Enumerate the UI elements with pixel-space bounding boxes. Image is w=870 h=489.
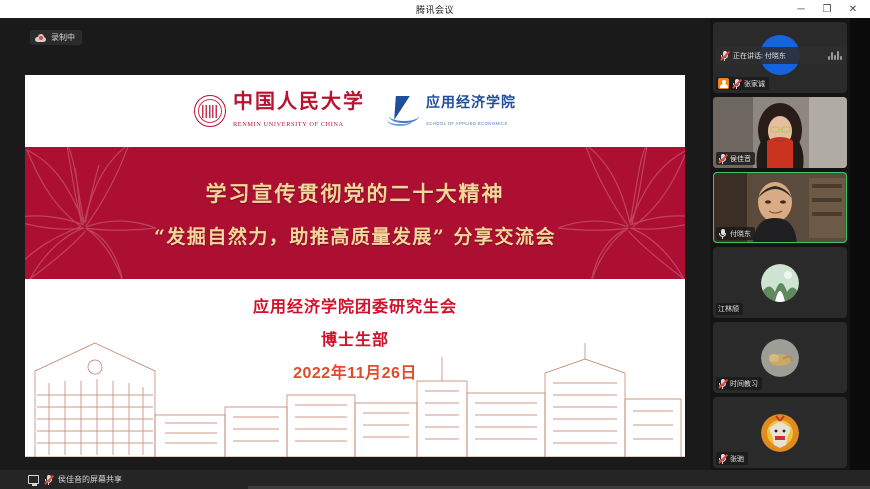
- university-name-en: RENMIN UNIVERSITY OF CHINA: [233, 121, 344, 128]
- mic-muted-icon: [720, 50, 729, 61]
- slide-logo-row: 中国人民大学 RENMIN UNIVERSITY OF CHINA 应用经济学院…: [25, 75, 685, 147]
- avatar: [761, 339, 799, 377]
- mic-on-icon: [718, 228, 727, 239]
- meeting-window: 录制中 中国人民大学 RENMIN UNIVERSITY OF CHINA 应用…: [0, 18, 870, 489]
- screen-share-icon: [28, 475, 39, 484]
- mic-muted-icon: [718, 453, 727, 464]
- university-name-cn: 中国人民大学: [233, 89, 365, 113]
- recording-indicator[interactable]: 录制中: [30, 30, 82, 45]
- participant-name: 付晓东: [730, 229, 751, 239]
- maximize-restore-button[interactable]: ❐: [814, 0, 840, 18]
- active-speaker-label: 正在讲话: 付晓东: [733, 51, 786, 61]
- participant-name: 侯佳音: [730, 154, 751, 164]
- slide-dept-line: 博士生部: [321, 326, 389, 350]
- audio-wave-icon: [828, 51, 842, 60]
- shared-screen-stage: 录制中 中国人民大学 RENMIN UNIVERSITY OF CHINA 应用…: [0, 18, 710, 470]
- participant-name: 张家诚: [744, 79, 765, 89]
- participant-tile-2[interactable]: 侯佳音: [713, 97, 847, 168]
- active-speaker-banner: 正在讲话: 付晓东: [715, 47, 847, 64]
- presentation-slide: 中国人民大学 RENMIN UNIVERSITY OF CHINA 应用经济学院…: [25, 75, 685, 457]
- recording-label: 录制中: [51, 32, 75, 43]
- recording-bar: 录制中: [0, 28, 710, 50]
- school-name-cn: 应用经济学院: [426, 95, 516, 111]
- screen-share-status-bar: 侯佳音的屏幕共享: [0, 470, 870, 489]
- participant-rail[interactable]: 正在讲话: 付晓东 张家诚: [710, 18, 850, 470]
- participant-tile-4[interactable]: 江林颀: [713, 247, 847, 318]
- participant-tile-5[interactable]: 时间教习: [713, 322, 847, 393]
- window-title-bar: 腾讯会议 ─ ❐ ✕: [0, 0, 870, 18]
- slide-title-banner: 学习宣传贯彻党的二十大精神 “发掘自然力，助推高质量发展” 分享交流会: [25, 147, 685, 279]
- participant-nametag: 侯佳音: [716, 152, 755, 165]
- participant-name: 时间教习: [730, 379, 758, 389]
- participant-nametag: 付晓东: [716, 227, 755, 240]
- school-of-applied-economics-logo: 应用经济学院 SCHOOL OF APPLIED ECONOMICS: [387, 92, 516, 130]
- sail-logo-icon: [387, 96, 421, 126]
- participant-tile-6[interactable]: 张驰: [713, 397, 847, 468]
- participant-name: 江林颀: [718, 304, 739, 314]
- close-button[interactable]: ✕: [840, 0, 866, 18]
- school-name-en: SCHOOL OF APPLIED ECONOMICS: [426, 121, 508, 126]
- avatar: [761, 414, 799, 452]
- slide-title-line1: 学习宣传贯彻党的二十大精神: [206, 178, 505, 208]
- participant-nametag: 张家诚: [716, 77, 769, 90]
- window-controls: ─ ❐ ✕: [788, 0, 866, 18]
- mic-muted-icon: [718, 153, 727, 164]
- renmin-university-seal-icon: [194, 95, 226, 127]
- slide-footer-area: 应用经济学院团委研究生会 博士生部 2022年11月26日: [25, 279, 685, 457]
- participant-name: 张驰: [730, 454, 744, 464]
- screen-share-label: 侯佳音的屏幕共享: [58, 474, 122, 485]
- mic-muted-icon: [718, 378, 727, 389]
- window-title: 腾讯会议: [416, 3, 454, 16]
- renmin-university-logo: 中国人民大学 RENMIN UNIVERSITY OF CHINA: [194, 91, 365, 131]
- participant-tile-active-speaker[interactable]: 付晓东: [713, 172, 847, 243]
- mic-muted-icon: [44, 474, 53, 485]
- participant-tile-host[interactable]: 正在讲话: 付晓东 张家诚: [713, 22, 847, 93]
- minimize-button[interactable]: ─: [788, 0, 814, 18]
- avatar: [761, 264, 799, 302]
- participant-nametag: 张驰: [716, 452, 748, 465]
- cloud-record-icon: [35, 34, 46, 42]
- slide-date-line: 2022年11月26日: [293, 359, 417, 383]
- slide-org-line: 应用经济学院团委研究生会: [253, 293, 457, 317]
- slide-title-line2: “发掘自然力，助推高质量发展” 分享交流会: [154, 222, 556, 249]
- host-badge-icon: [718, 78, 729, 89]
- participant-nametag: 时间教习: [716, 377, 762, 390]
- mic-muted-icon: [732, 78, 741, 89]
- participant-nametag: 江林颀: [716, 303, 743, 315]
